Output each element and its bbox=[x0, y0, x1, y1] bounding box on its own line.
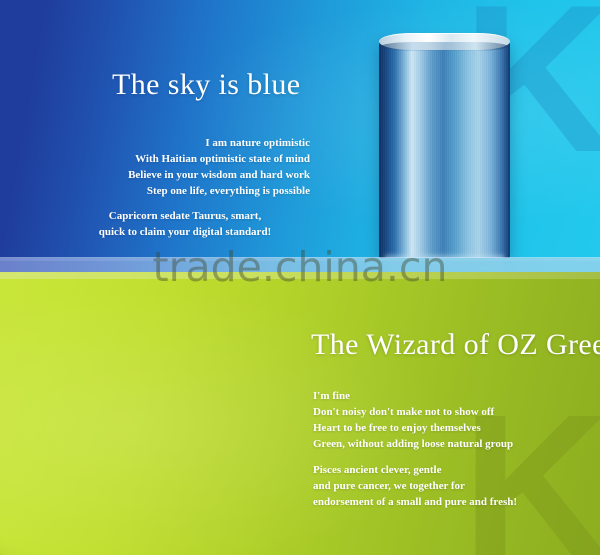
blue-paragraph-1-line: Step one life, everything is possible bbox=[60, 183, 310, 199]
blue-paragraph-1-line: With Haitian optimistic state of mind bbox=[60, 151, 310, 167]
green-paragraph-1-line: I'm fine bbox=[313, 388, 583, 404]
green-paragraph-2-line: endorsement of a small and pure and fres… bbox=[313, 494, 593, 510]
blue-paragraph-2-line: Capricorn sedate Taurus, smart, bbox=[60, 208, 310, 224]
blue-panel-floor-strip bbox=[0, 258, 600, 272]
gold-power-bank-body bbox=[0, 516, 271, 555]
blue-power-bank-body bbox=[379, 39, 510, 259]
blue-panel: K The sky is blue I am nature optimistic… bbox=[0, 0, 600, 272]
blue-power-bank-cap-shadow bbox=[381, 42, 508, 51]
green-paragraph-1-line: Don't noisy don't make not to show off bbox=[313, 404, 583, 420]
blue-panel-paragraph-2: Capricorn sedate Taurus, smart, quick to… bbox=[60, 208, 310, 240]
product-banner: K The sky is blue I am nature optimistic… bbox=[0, 0, 600, 555]
blue-paragraph-1-line: Believe in your wisdom and hard work bbox=[60, 167, 310, 183]
green-panel-top-seam bbox=[0, 272, 600, 279]
blue-panel-paragraph-1: I am nature optimistic With Haitian opti… bbox=[60, 135, 310, 199]
blue-power-bank-image bbox=[379, 33, 510, 259]
green-paragraph-2-line: and pure cancer, we together for bbox=[313, 478, 593, 494]
blue-panel-headline: The sky is blue bbox=[112, 68, 300, 102]
blue-paragraph-2-line: quick to claim your digital standard! bbox=[60, 224, 310, 240]
gold-power-bank-image: KETRON® bbox=[0, 516, 271, 555]
gold-power-bank-top-edge bbox=[0, 520, 264, 555]
green-panel-paragraph-1: I'm fine Don't noisy don't make not to s… bbox=[313, 388, 583, 452]
green-panel-headline: The Wizard of OZ Green bbox=[311, 328, 600, 362]
blue-paragraph-1-line: I am nature optimistic bbox=[60, 135, 310, 151]
green-paragraph-2-line: Pisces ancient clever, gentle bbox=[313, 462, 593, 478]
green-panel-paragraph-2: Pisces ancient clever, gentle and pure c… bbox=[313, 462, 593, 510]
green-paragraph-1-line: Heart to be free to enjoy themselves bbox=[313, 420, 583, 436]
green-paragraph-1-line: Green, without adding loose natural grou… bbox=[313, 436, 583, 452]
